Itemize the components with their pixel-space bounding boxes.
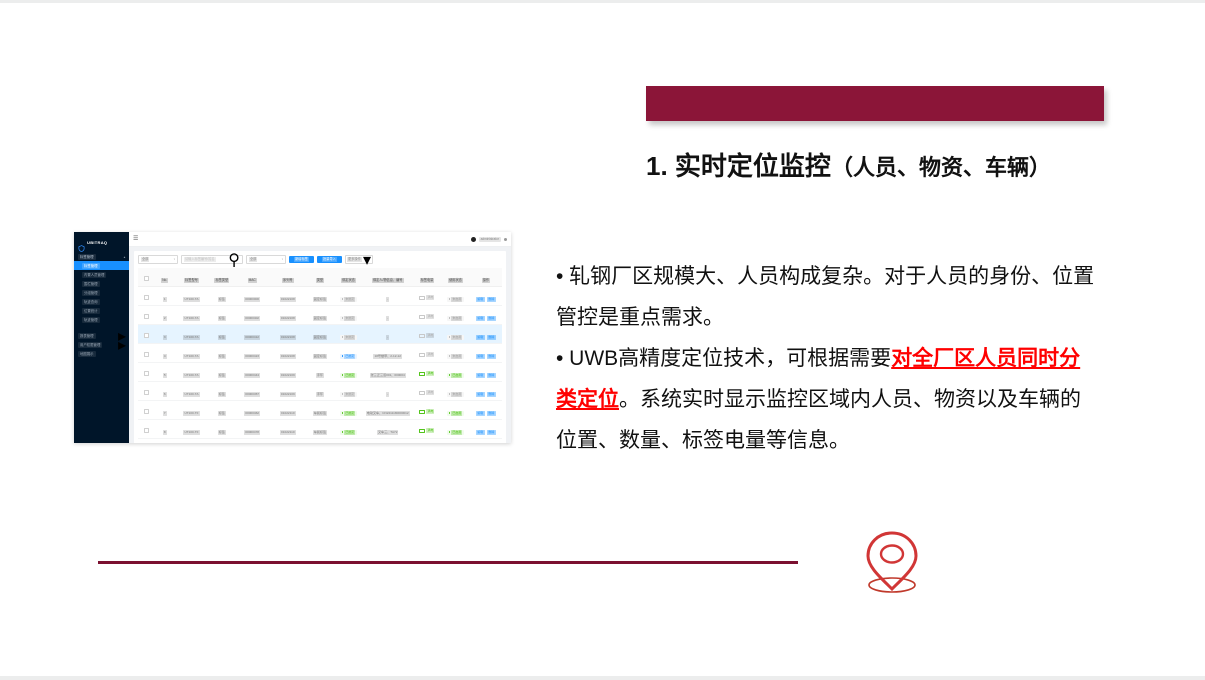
- cell-battery: 满电: [413, 306, 442, 325]
- content-panel: 全部 ▾ 请输入标签编号/姓名 ⚲ 全部 ▾ 新增标签: [134, 251, 506, 443]
- sidebar-item-track-management[interactable]: 轨迹管理: [74, 315, 129, 324]
- cell-usage: 未启用: [441, 344, 470, 363]
- cell-model: UT100-TA: [174, 287, 210, 306]
- cell-no: 1: [156, 287, 174, 306]
- title-number: 1.: [646, 151, 668, 181]
- row-actions: 编辑删除: [476, 392, 496, 397]
- row-actions: 编辑删除: [476, 335, 496, 340]
- cell-checkbox: [138, 344, 156, 363]
- th-actions: 操作: [470, 268, 502, 287]
- chevron-right-icon: ▸: [118, 335, 126, 355]
- cell-usage: 未启用: [441, 325, 470, 344]
- sidebar-item-group[interactable]: 分组管理: [74, 288, 129, 297]
- action-link[interactable]: 编辑: [476, 354, 485, 359]
- slide-root: 1. 实时定位监控（人员、物资、车辆） • 轧钢厂区规模大、人员构成复杂。对于人…: [0, 0, 1205, 680]
- bullet-2-pre: • UWB高精度定位技术，可根据需要: [556, 347, 891, 370]
- chevron-down-icon: ▾: [363, 250, 371, 270]
- usage-badge: 已启用: [447, 373, 464, 378]
- cell-category: 物资标签: [306, 439, 335, 444]
- row-actions: 编辑删除: [476, 297, 496, 302]
- cell-usage: 未启用: [441, 287, 470, 306]
- cell-type: 标签: [209, 420, 234, 439]
- action-link[interactable]: 删除: [487, 316, 496, 321]
- cell-actions: 编辑删除: [470, 325, 502, 344]
- action-link[interactable]: 删除: [487, 335, 496, 340]
- checkbox-icon[interactable]: [144, 428, 149, 433]
- app-logo: UBITRAQ: [74, 232, 129, 249]
- shield-logo-icon: [78, 239, 85, 246]
- action-link[interactable]: 删除: [487, 411, 496, 416]
- sidebar-footer-label: 用户权限管理: [78, 342, 102, 348]
- cell-no: 5: [156, 363, 174, 382]
- filter-select-type[interactable]: 全部 ▾: [138, 255, 178, 264]
- cell-category: 车载标签: [306, 401, 335, 420]
- row-actions: 编辑删除: [476, 373, 496, 378]
- usage-badge: 已启用: [447, 411, 464, 416]
- cell-bind-status: 已绑定: [334, 363, 363, 382]
- cell-model: UT100-TA: [174, 306, 210, 325]
- status-badge: 已绑定: [340, 373, 357, 378]
- cell-bind-status: 未绑定: [334, 306, 363, 325]
- cell-bind-info: -: [363, 325, 413, 344]
- search-placeholder: 请输入标签编号/姓名: [184, 257, 216, 262]
- cell-no: 6: [156, 382, 174, 401]
- cell-actions: 编辑删除: [470, 306, 502, 325]
- cell-checkbox: [138, 363, 156, 382]
- table-row[interactable]: 4UT100-TA标签0000042301022108固定标签已绑定18号楼甲、…: [138, 344, 502, 363]
- action-link[interactable]: 删除: [487, 430, 496, 435]
- cell-battery: 满电: [413, 401, 442, 420]
- sidebar-item-label: 位置统计: [82, 308, 100, 314]
- cell-bind-info: 电动叉车、CN2211180000012: [363, 401, 413, 420]
- row-actions: 编辑删除: [476, 411, 496, 416]
- battery-indicator: 满电: [419, 428, 434, 433]
- sidebar-item-label: 标签管理: [82, 263, 100, 269]
- body-copy: • 轧钢厂区规模大、人员构成复杂。对于人员的身份、位置管控是重点需求。 • UW…: [556, 256, 1101, 461]
- status-badge: 已绑定: [340, 411, 357, 416]
- cell-battery: 满电: [413, 287, 442, 306]
- cell-battery: 满电: [413, 439, 442, 444]
- table-row[interactable]: 9UT100-TF标签0000048001022110物资标签已绑定卫冕叉车、0…: [138, 439, 502, 444]
- header-banner: [646, 86, 1104, 121]
- cell-bind-info: -: [363, 287, 413, 306]
- sidebar-footer-label: 报表管理: [78, 333, 96, 339]
- cell-bind-status: 未绑定: [334, 325, 363, 344]
- table-row[interactable]: 7UT100-TF标签0000046201022110车载标签已绑定电动叉车、C…: [138, 401, 502, 420]
- table-body: 1UT100-TA标签0000000001022108固定标签未绑定-满电未启用…: [138, 287, 502, 444]
- cell-bind-info: 卫冕叉车、000004: [363, 439, 413, 444]
- th-category: 类型: [306, 268, 335, 287]
- more-actions-value: 更多操作: [347, 257, 362, 262]
- cell-actions: 编辑删除: [470, 287, 502, 306]
- battery-indicator: 满电: [419, 390, 434, 395]
- sidebar-group-tag-management[interactable]: 标签管理 ▲: [74, 252, 129, 261]
- dashboard-main: ☰ administrator 全部 ▾ 请: [129, 232, 511, 443]
- cell-category: 车载标签: [306, 420, 335, 439]
- topbar-user-area: administrator: [471, 237, 507, 242]
- cell-model: UT100-TA: [174, 382, 210, 401]
- sidebar-item-label: 轨迹查询: [82, 299, 100, 305]
- table-row[interactable]: 5UT100-TA标签0000044401022109手环已绑定张三正三道001…: [138, 363, 502, 382]
- action-link[interactable]: 删除: [487, 392, 496, 397]
- filter-select-type-value: 全部: [141, 257, 149, 262]
- sidebar-item-personnel[interactable]: 内置人员管理: [74, 270, 129, 279]
- checkbox-icon[interactable]: [144, 314, 149, 319]
- checkbox-icon[interactable]: [144, 390, 149, 395]
- cell-actions: 编辑删除: [470, 420, 502, 439]
- checkbox-icon[interactable]: [144, 409, 149, 414]
- cell-actions: 编辑删除: [470, 344, 502, 363]
- action-link[interactable]: 编辑: [476, 430, 485, 435]
- cell-serial: 01022110: [270, 439, 306, 444]
- cell-no: 3: [156, 325, 174, 344]
- hamburger-icon[interactable]: ☰: [133, 236, 138, 242]
- cell-type: 标签: [209, 344, 234, 363]
- cell-serial: 01022108: [270, 306, 306, 325]
- sidebar-item-tag-management[interactable]: 标签管理: [74, 261, 129, 270]
- cell-type: 标签: [209, 306, 234, 325]
- cell-bind-info: -: [363, 382, 413, 401]
- cell-mac: 00000457: [234, 382, 270, 401]
- usage-badge: 已启用: [447, 430, 464, 435]
- table-row[interactable]: 3UT100-TA标签0000041201022108固定标签未绑定-满电未启用…: [138, 325, 502, 344]
- cell-usage: 已启用: [441, 420, 470, 439]
- cell-bind-status: 已绑定: [334, 344, 363, 363]
- cell-checkbox: [138, 382, 156, 401]
- bullet-2-post: 。系统实时显示监控区域内人员、物资以及车辆的位置、数量、标签电量等信息。: [556, 388, 1081, 452]
- dashboard-sidebar: UBITRAQ 标签管理 ▲ 标签管理 内置人员管理 围栏管理 分组管理 轨迹查…: [74, 232, 129, 443]
- table-row[interactable]: 6UT100-TA标签0000045701022109手环未绑定-满电未启用编辑…: [138, 382, 502, 401]
- th-mac: MAC: [234, 268, 270, 287]
- table-header-row: No. 标签型号 标签类型 MAC 序列号 类型 绑定状态 绑定人/物信息、编号…: [138, 268, 502, 287]
- sidebar-group-label: 标签管理: [78, 254, 96, 260]
- cell-actions: 编辑删除: [470, 439, 502, 444]
- cell-usage: 已启用: [441, 401, 470, 420]
- status-badge: 未绑定: [340, 335, 357, 340]
- cell-mac: 00000000: [234, 287, 270, 306]
- add-tag-button[interactable]: 新增标签: [289, 256, 314, 263]
- usage-badge: 未启用: [447, 316, 464, 321]
- cell-battery: 满电: [413, 344, 442, 363]
- cell-mac: 00000412: [234, 325, 270, 344]
- cell-model: UT100-TA: [174, 344, 210, 363]
- slide-top-edge: [0, 0, 1205, 3]
- battery-indicator: 满电: [419, 333, 434, 338]
- cell-serial: 01022110: [270, 401, 306, 420]
- cell-no: 2: [156, 306, 174, 325]
- cell-bind-status: 已绑定: [334, 401, 363, 420]
- status-badge: 已绑定: [340, 430, 357, 435]
- bullet-1: • 轧钢厂区规模大、人员构成复杂。对于人员的身份、位置管控是重点需求。: [556, 256, 1101, 338]
- cell-type: 标签: [209, 439, 234, 444]
- action-link[interactable]: 编辑: [476, 297, 485, 302]
- cell-no: 7: [156, 401, 174, 420]
- add-tag-label: 新增标签: [294, 257, 309, 262]
- th-usage: 使用状态: [441, 268, 470, 287]
- cell-mac: 00000462: [234, 401, 270, 420]
- cell-no: 4: [156, 344, 174, 363]
- chevron-up-icon: ▲: [123, 255, 126, 259]
- cell-usage: 未启用: [441, 382, 470, 401]
- action-link[interactable]: 编辑: [476, 411, 485, 416]
- cell-checkbox: [138, 287, 156, 306]
- cell-usage: 已启用: [441, 439, 470, 444]
- th-type: 标签类型: [209, 268, 234, 287]
- th-bind-status: 绑定状态: [334, 268, 363, 287]
- slide-bottom-edge: [0, 676, 1205, 680]
- tag-table: No. 标签型号 标签类型 MAC 序列号 类型 绑定状态 绑定人/物信息、编号…: [138, 268, 502, 443]
- cell-bind-info: 叉车三、TA72: [363, 420, 413, 439]
- cell-battery: 满电: [413, 382, 442, 401]
- title-parenthetical: （人员、物资、车辆）: [831, 155, 1051, 180]
- cell-serial: 01022109: [270, 363, 306, 382]
- gear-icon[interactable]: [504, 238, 507, 241]
- filter-select-status[interactable]: 全部 ▾: [246, 255, 286, 264]
- cell-bind-info: 18号楼甲、2-12-12: [363, 344, 413, 363]
- row-actions: 编辑删除: [476, 354, 496, 359]
- cell-bind-status: 已绑定: [334, 420, 363, 439]
- action-link[interactable]: 编辑: [476, 316, 485, 321]
- usage-badge: 未启用: [447, 392, 464, 397]
- checkbox-icon[interactable]: [144, 276, 149, 281]
- cell-category: 固定标签: [306, 325, 335, 344]
- cell-mac: 00000423: [234, 344, 270, 363]
- cell-battery: 满电: [413, 363, 442, 382]
- cell-checkbox: [138, 439, 156, 444]
- cell-serial: 01022108: [270, 344, 306, 363]
- cell-category: 固定标签: [306, 344, 335, 363]
- filter-select-status-value: 全部: [249, 257, 257, 262]
- battery-indicator: 满电: [419, 371, 434, 376]
- status-badge: 未绑定: [340, 297, 357, 302]
- cell-actions: 编辑删除: [470, 363, 502, 382]
- dashboard-screenshot: UBITRAQ 标签管理 ▲ 标签管理 内置人员管理 围栏管理 分组管理 轨迹查…: [74, 232, 511, 443]
- status-badge: 未绑定: [340, 316, 357, 321]
- cell-category: 手环: [306, 363, 335, 382]
- username-label: administrator: [479, 237, 501, 242]
- usage-badge: 未启用: [447, 354, 464, 359]
- cell-model: UT100-TA: [174, 325, 210, 344]
- sidebar-item-label: 内置人员管理: [82, 272, 106, 278]
- status-badge: 已绑定: [340, 354, 357, 359]
- title-main: 实时定位监控: [675, 151, 831, 181]
- cell-battery: 满电: [413, 325, 442, 344]
- cell-battery: 满电: [413, 420, 442, 439]
- cell-type: 标签: [209, 401, 234, 420]
- action-link[interactable]: 删除: [487, 297, 496, 302]
- cell-usage: 未启用: [441, 306, 470, 325]
- sidebar-item-position-stats[interactable]: 位置统计: [74, 306, 129, 315]
- cell-bind-status: 未绑定: [334, 287, 363, 306]
- cell-serial: 01022109: [270, 382, 306, 401]
- cell-actions: 编辑删除: [470, 382, 502, 401]
- cell-category: 手环: [306, 382, 335, 401]
- cell-bind-status: 未绑定: [334, 382, 363, 401]
- sidebar-item-track-query[interactable]: 轨迹查询: [74, 297, 129, 306]
- chevron-down-icon: ▾: [282, 258, 283, 261]
- action-link[interactable]: 编辑: [476, 335, 485, 340]
- battery-indicator: 满电: [419, 409, 434, 414]
- th-model: 标签型号: [174, 268, 210, 287]
- cell-actions: 编辑删除: [470, 401, 502, 420]
- search-icon: ⚲: [228, 250, 240, 270]
- cell-serial: 01022110: [270, 420, 306, 439]
- usage-badge: 未启用: [447, 297, 464, 302]
- cell-serial: 01022108: [270, 325, 306, 344]
- dashboard-topbar: ☰ administrator: [129, 232, 511, 247]
- battery-indicator: 满电: [419, 352, 434, 357]
- sidebar-item-label: 围栏管理: [82, 281, 100, 287]
- sidebar-footer-label: 地图展示: [78, 351, 96, 357]
- checkbox-icon[interactable]: [144, 352, 149, 357]
- checkbox-icon[interactable]: [144, 295, 149, 300]
- action-link[interactable]: 删除: [487, 354, 496, 359]
- page-title: 1. 实时定位监控（人员、物资、车辆）: [646, 146, 1186, 183]
- cell-type: 标签: [209, 325, 234, 344]
- cell-mac: 00000478: [234, 420, 270, 439]
- cell-mac: 00000402: [234, 306, 270, 325]
- row-actions: 编辑删除: [476, 430, 496, 435]
- cell-checkbox: [138, 401, 156, 420]
- table-row[interactable]: 8UT100-TF标签0000047801022110车载标签已绑定叉车三、TA…: [138, 420, 502, 439]
- battery-indicator: 满电: [419, 314, 434, 319]
- more-actions-select[interactable]: 更多操作 ▾: [345, 255, 373, 264]
- cell-no: 9: [156, 439, 174, 444]
- sidebar-item-user-permissions[interactable]: 用户权限管理 ▸: [74, 340, 129, 349]
- sidebar-item-label: 分组管理: [82, 290, 100, 296]
- cell-usage: 已启用: [441, 363, 470, 382]
- sidebar-item-fence[interactable]: 围栏管理: [74, 279, 129, 288]
- action-link[interactable]: 编辑: [476, 373, 485, 378]
- row-actions: 编辑删除: [476, 316, 496, 321]
- cell-model: UT100-TA: [174, 363, 210, 382]
- action-link[interactable]: 编辑: [476, 392, 485, 397]
- filter-toolbar: 全部 ▾ 请输入标签编号/姓名 ⚲ 全部 ▾ 新增标签: [138, 255, 502, 264]
- cell-checkbox: [138, 306, 156, 325]
- cell-model: UT100-TF: [174, 420, 210, 439]
- th-serial: 序列号: [270, 268, 306, 287]
- cell-bind-info: -: [363, 306, 413, 325]
- sidebar-item-label: 轨迹管理: [82, 317, 100, 323]
- map-pin-icon: [852, 525, 932, 597]
- chevron-down-icon: ▾: [174, 258, 175, 261]
- batch-import-label: 批量导入: [322, 257, 337, 262]
- batch-import-button[interactable]: 批量导入: [317, 256, 342, 263]
- table-row[interactable]: 2UT100-TA标签0000040201022108固定标签未绑定-满电未启用…: [138, 306, 502, 325]
- cell-no: 8: [156, 420, 174, 439]
- th-no: No.: [156, 268, 174, 287]
- cell-type: 标签: [209, 382, 234, 401]
- th-bind-info: 绑定人/物信息、编号: [363, 268, 413, 287]
- cell-type: 标签: [209, 287, 234, 306]
- usage-badge: 未启用: [447, 335, 464, 340]
- bullet-2: • UWB高精度定位技术，可根据需要对全厂区人员同时分类定位。系统实时显示监控区…: [556, 338, 1101, 461]
- status-badge: 未绑定: [340, 392, 357, 397]
- checkbox-icon[interactable]: [144, 371, 149, 376]
- th-select-all[interactable]: [138, 268, 156, 287]
- cell-type: 标签: [209, 363, 234, 382]
- cell-mac: 00000480: [234, 439, 270, 444]
- cell-bind-info: 张三正三道001、000004: [363, 363, 413, 382]
- action-link[interactable]: 删除: [487, 373, 496, 378]
- dashboard-content: 全部 ▾ 请输入标签编号/姓名 ⚲ 全部 ▾ 新增标签: [129, 247, 511, 443]
- cell-category: 固定标签: [306, 287, 335, 306]
- cell-category: 固定标签: [306, 306, 335, 325]
- cell-mac: 00000444: [234, 363, 270, 382]
- cell-serial: 01022108: [270, 287, 306, 306]
- table-row[interactable]: 1UT100-TA标签0000000001022108固定标签未绑定-满电未启用…: [138, 287, 502, 306]
- search-input[interactable]: 请输入标签编号/姓名 ⚲: [181, 255, 243, 264]
- cell-model: UT100-TF: [174, 439, 210, 444]
- checkbox-icon[interactable]: [144, 333, 149, 338]
- th-battery: 标签电量: [413, 268, 442, 287]
- cell-bind-status: 已绑定: [334, 439, 363, 444]
- app-logo-text: UBITRAQ: [87, 240, 107, 245]
- cell-model: UT100-TF: [174, 401, 210, 420]
- footer-divider: [98, 561, 798, 564]
- cell-checkbox: [138, 325, 156, 344]
- cell-checkbox: [138, 420, 156, 439]
- battery-indicator: 满电: [419, 295, 434, 300]
- avatar[interactable]: [471, 237, 476, 242]
